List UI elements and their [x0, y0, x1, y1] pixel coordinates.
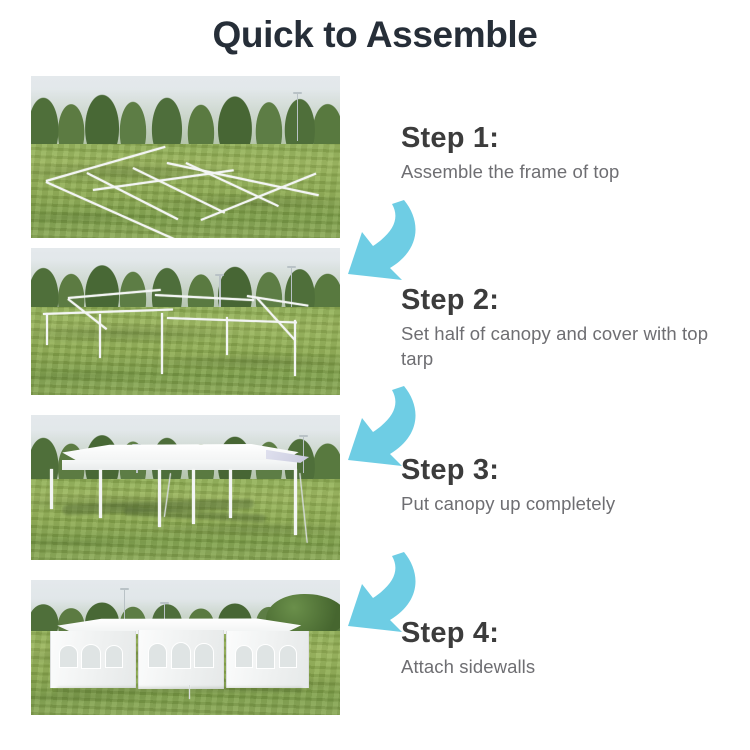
step-2-description: Set half of canopy and cover with top ta… — [401, 322, 731, 371]
frame-leg — [161, 313, 163, 375]
canopy-leg — [294, 469, 297, 536]
canopy-valance — [62, 460, 297, 470]
arched-window — [256, 644, 276, 669]
step-3-block: Step 3: Put canopy up completely — [401, 455, 731, 517]
canopy-leg — [229, 469, 232, 518]
tent-shadow — [56, 687, 303, 693]
step-1-title: Step 1: — [401, 123, 731, 153]
step-1-photo — [31, 76, 340, 238]
arched-window — [148, 643, 167, 668]
frame-leg — [226, 317, 228, 355]
light-pole-icon — [219, 274, 221, 309]
step-3-photo — [31, 415, 340, 560]
step-2-photo — [31, 248, 340, 395]
canopy-leg — [99, 469, 102, 518]
arrow-step-1-to-2 — [332, 196, 428, 286]
arched-window — [235, 645, 253, 668]
frame-leg — [294, 320, 296, 376]
sidewall-panel — [226, 631, 309, 688]
scene-sidewalls — [31, 580, 340, 715]
arched-window — [105, 645, 124, 668]
canopy-leg — [158, 469, 161, 527]
step-3-title: Step 3: — [401, 455, 731, 485]
step-1-block: Step 1: Assemble the frame of top — [401, 123, 731, 185]
step-1-description: Assemble the frame of top — [401, 160, 731, 185]
step-4-photo — [31, 580, 340, 715]
step-4-description: Attach sidewalls — [401, 655, 731, 680]
light-pole-icon — [303, 435, 305, 473]
arched-window — [171, 642, 191, 669]
page-title: Quick to Assemble — [0, 14, 750, 56]
step-4-title: Step 4: — [401, 618, 731, 648]
scene-standing-frame — [31, 248, 340, 395]
guy-rope — [189, 685, 190, 699]
scene-flat-frame — [31, 76, 340, 238]
sidewall-panel — [138, 630, 225, 689]
canopy-leg — [192, 469, 195, 524]
frame-leg — [99, 314, 101, 358]
light-pole-icon — [297, 92, 299, 141]
step-3-description: Put canopy up completely — [401, 492, 731, 517]
frame-leg — [46, 313, 48, 345]
step-4-block: Step 4: Attach sidewalls — [401, 618, 731, 680]
scene-canopy-up — [31, 415, 340, 560]
arched-window — [81, 644, 101, 669]
arched-window — [59, 645, 78, 668]
canopy-leg — [50, 469, 53, 510]
step-2-title: Step 2: — [401, 285, 731, 315]
sidewall-panel — [50, 631, 137, 688]
arched-window — [279, 645, 297, 668]
treeline — [31, 89, 340, 147]
light-pole-icon — [124, 588, 126, 623]
arched-window — [194, 643, 213, 668]
infographic-page: Quick to Assemble — [0, 0, 750, 750]
step-2-block: Step 2: Set half of canopy and cover wit… — [401, 285, 731, 372]
